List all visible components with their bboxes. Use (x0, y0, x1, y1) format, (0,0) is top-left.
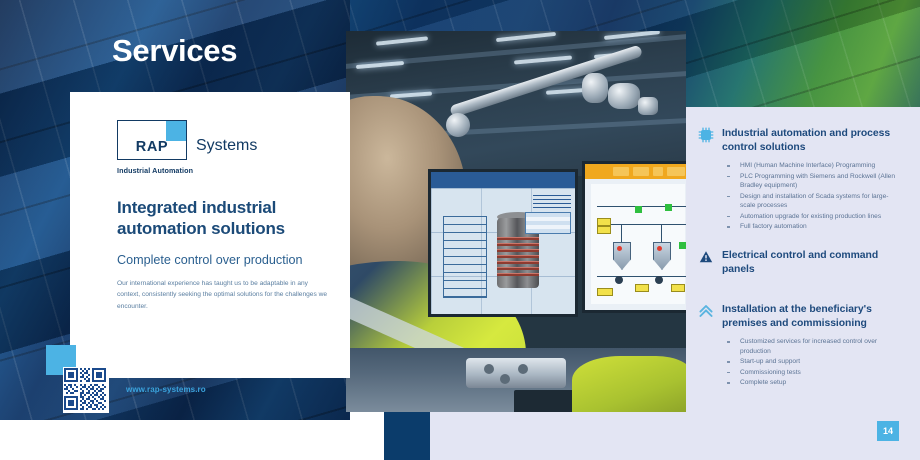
photo-scada-toolbar-button (653, 167, 663, 176)
intro-card: RAP Systems Industrial Automation Integr… (70, 92, 350, 378)
logo-accent-square-icon (166, 121, 186, 141)
list-item: Design and installation of Scada systems… (722, 192, 900, 211)
list-item: Full factory automation (722, 222, 900, 231)
main-photo (346, 31, 686, 412)
photo-robot-joint (582, 73, 608, 103)
service-title: Installation at the beneficiary's premis… (722, 303, 900, 330)
chevron-up-icon (698, 303, 714, 319)
photo-cad-tank-coil (497, 234, 539, 276)
service-bullet-list: HMI (Human Machine Interface) Programmin… (722, 161, 900, 231)
logo-tagline: Industrial Automation (117, 166, 257, 175)
photo-cad-table (525, 212, 571, 234)
service-title: Electrical control and command panels (722, 249, 900, 276)
warning-triangle-icon (698, 249, 714, 265)
photo-scada-diagram (591, 184, 685, 304)
photo-metal-sensor-part (466, 358, 566, 388)
photo-robot-gripper (638, 97, 658, 115)
list-item: Complete setup (722, 378, 900, 387)
service-title: Industrial automation and process contro… (722, 127, 900, 154)
photo-monitor-titlebar (431, 172, 575, 188)
chip-icon (698, 127, 714, 143)
headline: Integrated industrial automation solutio… (117, 197, 332, 239)
logo-mark-box: RAP (117, 120, 187, 160)
photo-gloved-hand (572, 356, 686, 412)
list-item: Commissioning tests (722, 368, 900, 377)
photo-cad-wireframe (443, 216, 487, 298)
list-item: PLC Programming with Siemens and Rockwel… (722, 172, 900, 191)
photo-monitor-scada (582, 161, 686, 313)
navy-accent-block (384, 412, 430, 460)
subheadline: Complete control over production (117, 252, 347, 268)
list-item: HMI (Human Machine Interface) Programmin… (722, 161, 900, 170)
list-item: Automation upgrade for existing producti… (722, 212, 900, 221)
page-number-badge: 14 (877, 421, 899, 441)
photo-robot-joint (446, 113, 470, 137)
list-item: Customized services for increased contro… (722, 337, 900, 356)
photo-scada-toolbar-button (633, 167, 649, 176)
logo-word-text: Systems (196, 137, 257, 155)
photo-robot-joint (608, 83, 640, 109)
list-item: Start-up and support (722, 357, 900, 366)
photo-cad-legend (533, 192, 571, 208)
website-url[interactable]: www.rap-systems.ro (126, 385, 206, 394)
service-item[interactable]: Installation at the beneficiary's premis… (722, 303, 900, 389)
page-title: Services (112, 33, 237, 69)
photo-scada-toolbar-button (613, 167, 629, 176)
service-bullet-list: Customized services for increased contro… (722, 337, 900, 387)
photo-scada-toolbar-button (667, 167, 685, 176)
slide-root: Services RAP Systems Industrial Automati… (0, 0, 920, 460)
service-item[interactable]: Electrical control and command panels (722, 249, 900, 276)
service-item[interactable]: Industrial automation and process contro… (722, 127, 900, 233)
brand-logo: RAP Systems Industrial Automation (117, 120, 257, 175)
body-paragraph: Our international experience has taught … (117, 278, 332, 312)
qr-code[interactable] (63, 367, 109, 413)
logo-mark-text: RAP (136, 139, 168, 155)
photo-monitor-cad (428, 169, 578, 317)
services-panel: Industrial automation and process contro… (686, 107, 920, 420)
logo-row: RAP Systems (117, 120, 257, 160)
